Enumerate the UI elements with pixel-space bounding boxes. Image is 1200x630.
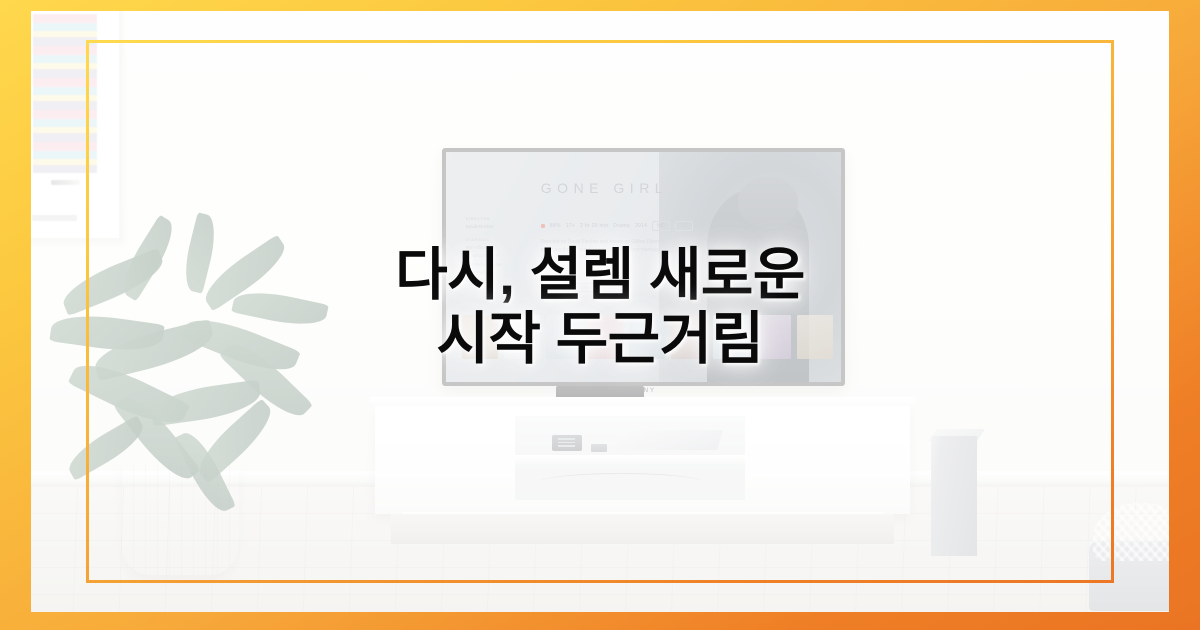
remote-control [552,435,582,451]
tv-match-score: 88% [550,223,561,229]
tv-movie-title: GONE GIRL [541,180,668,196]
console-top-surface [369,397,916,406]
tv-credit-role-director: DIRECTOR [466,216,533,223]
tv-credit-role-starring: STARRING [466,237,533,244]
tv-available-on: Available On iTunes HBO [541,283,620,292]
artwork-caption-plate [32,215,76,221]
tv-provider-hbo[interactable]: HBO [600,283,620,292]
tv-poster[interactable] [713,315,749,359]
tv-provider-itunes[interactable]: iTunes [571,283,594,292]
artwork-stripes [33,14,97,173]
tv-poster[interactable] [546,315,582,359]
tv-badge-hd: HD [652,221,670,231]
tv-poster[interactable] [629,315,665,359]
tv-credit-names-starring: Ben Affleck Rosamund Pike Neil Patrick H… [466,245,502,283]
tv-hero-figure-head [738,177,797,228]
console-shelf-divider [515,455,745,464]
tv-movie-meta: 88% 17+ 2 hr 29 min Drama 2014 HD CC [541,221,693,231]
tower-speaker [931,436,977,556]
cable [538,473,704,492]
tv-poster[interactable] [462,315,498,359]
tv-poster[interactable] [504,315,540,359]
tv-badge-cc: CC [675,221,693,231]
console-open-shelf [515,416,745,500]
social-card: GONE GIRL 88% 17+ 2 hr 29 min Drama 2014… [0,0,1200,630]
tv-duration: 2 hr 29 min [580,223,608,229]
tv-screen: GONE GIRL 88% 17+ 2 hr 29 min Drama 2014… [446,152,841,382]
tv-credits: DIRECTOR David Fincher STARRING Ben Affl… [466,216,533,285]
tv-available-on-label: Available On [541,285,566,290]
media-console [375,404,910,514]
console-base [391,514,894,544]
laptop-device [616,430,723,450]
tv-poster[interactable] [588,315,624,359]
small-device [591,444,607,452]
wall-artwork-frame [31,11,122,241]
tv-poster[interactable] [671,315,707,359]
tv-poster-row [462,315,833,359]
tv-movie-description: Directed by David Fincher and based on G… [541,239,715,262]
artwork-signature [51,180,80,185]
tv-year: 2014 [635,223,647,229]
tv-credit-names-director: David Fincher [466,224,494,229]
artwork-mat [31,12,114,233]
plant-leaf [231,286,329,332]
tv-poster[interactable] [755,315,791,359]
scene-photo: GONE GIRL 88% 17+ 2 hr 29 min Drama 2014… [31,11,1169,612]
tv-poster[interactable] [797,315,833,359]
tv-rating: 17+ [566,223,575,229]
tv-genre: Drama [613,223,630,229]
potted-plant [65,237,321,577]
plant-pot [121,463,239,575]
match-dot-icon [541,224,545,228]
television: GONE GIRL 88% 17+ 2 hr 29 min Drama 2014… [442,148,845,386]
